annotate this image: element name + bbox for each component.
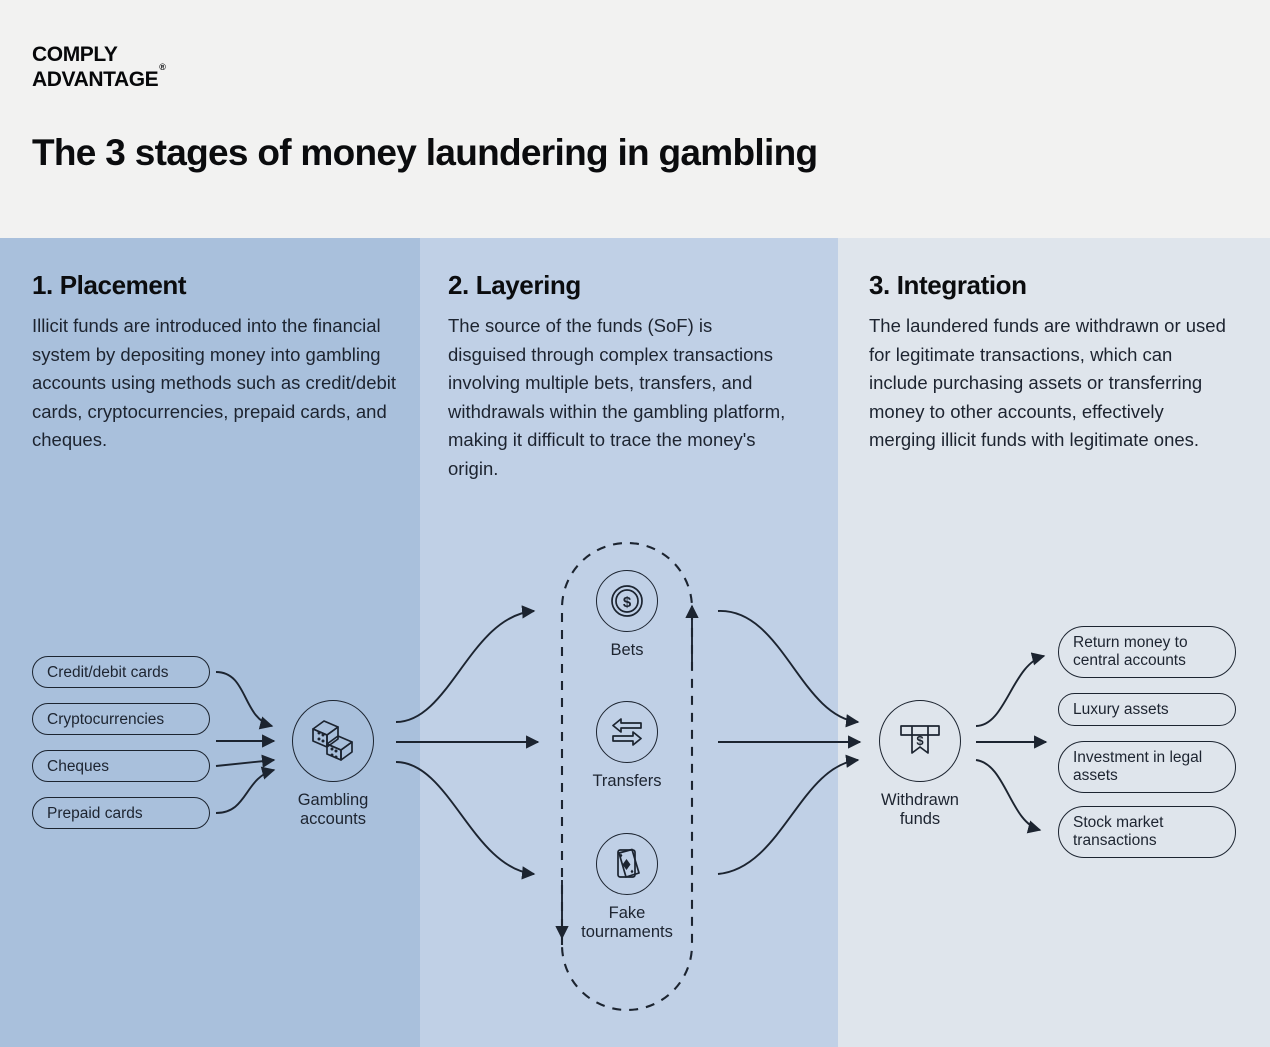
fake-tournaments-label: Fake tournaments	[555, 904, 699, 942]
withdrawn-funds-label: Withdrawn funds	[838, 791, 1002, 829]
pill-investment-in-legal-assets[interactable]: Investment in legal assets	[1058, 741, 1236, 793]
bets-circle: $	[596, 570, 658, 632]
dice-icon	[309, 718, 357, 764]
node-bets[interactable]: $ Bets	[555, 570, 699, 660]
brand-logo: COMPLY ADVANTAGE®	[32, 44, 165, 90]
playing-cards-icon	[610, 846, 644, 882]
two-way-arrows-icon	[608, 715, 646, 749]
gambling-accounts-label: Gambling accounts	[253, 791, 413, 829]
node-withdrawn-funds[interactable]: $ Withdrawn funds	[838, 700, 1002, 829]
bets-label: Bets	[555, 641, 699, 660]
stage-1-heading: 1. Placement	[32, 270, 402, 301]
stage-3-body: The laundered funds are withdrawn or use…	[869, 312, 1229, 455]
stage-1-body: Illicit funds are introduced into the fi…	[32, 312, 402, 455]
atm-cash-dispense-icon: $	[896, 719, 944, 763]
pill-cheques[interactable]: Cheques	[32, 750, 210, 782]
page-title: The 3 stages of money laundering in gamb…	[32, 132, 817, 174]
node-gambling-accounts[interactable]: Gambling accounts	[253, 700, 413, 829]
pill-cryptocurrencies[interactable]: Cryptocurrencies	[32, 703, 210, 735]
withdrawn-funds-circle: $	[879, 700, 961, 782]
coin-dollar-icon: $	[610, 584, 644, 618]
node-transfers[interactable]: Transfers	[555, 701, 699, 791]
transfers-label: Transfers	[555, 772, 699, 791]
fake-tournaments-circle	[596, 833, 658, 895]
pill-credit-debit-cards[interactable]: Credit/debit cards	[32, 656, 210, 688]
svg-text:$: $	[916, 733, 924, 748]
pill-return-money-to-central-accounts[interactable]: Return money to central accounts	[1058, 626, 1236, 678]
pill-stock-market-transactions[interactable]: Stock market transactions	[1058, 806, 1236, 858]
pill-prepaid-cards[interactable]: Prepaid cards	[32, 797, 210, 829]
node-fake-tournaments[interactable]: Fake tournaments	[555, 833, 699, 942]
stage-2-body: The source of the funds (SoF) is disguis…	[448, 312, 793, 484]
transfers-circle	[596, 701, 658, 763]
registered-mark-icon: ®	[159, 62, 165, 72]
header-band: COMPLY ADVANTAGE® The 3 stages of money …	[0, 0, 1270, 238]
pill-luxury-assets[interactable]: Luxury assets	[1058, 693, 1236, 726]
stage-column-placement: 1. Placement Illicit funds are introduce…	[0, 238, 420, 1047]
brand-line-2: ADVANTAGE	[32, 68, 158, 91]
infographic-page: COMPLY ADVANTAGE® The 3 stages of money …	[0, 0, 1270, 1047]
gambling-accounts-circle	[292, 700, 374, 782]
brand-line-1: COMPLY	[32, 43, 118, 66]
svg-text:$: $	[623, 594, 632, 611]
stage-3-heading: 3. Integration	[869, 270, 1229, 301]
stage-2-heading: 2. Layering	[448, 270, 793, 301]
